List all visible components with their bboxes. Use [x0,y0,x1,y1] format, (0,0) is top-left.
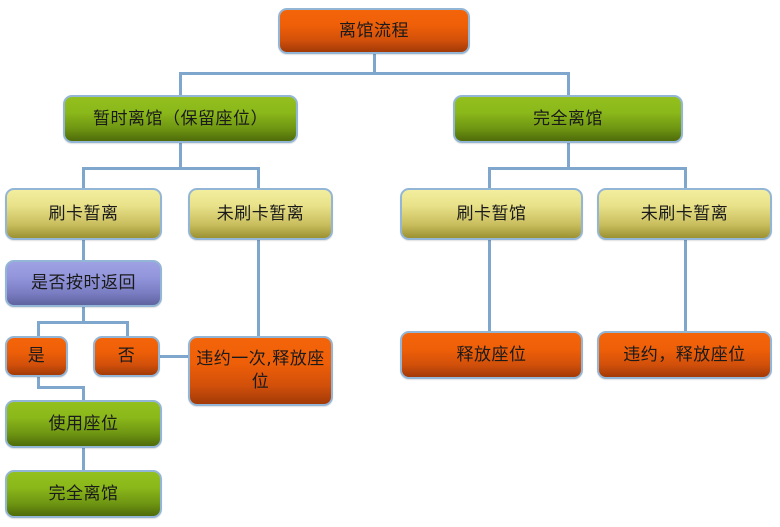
node-violate-release[interactable]: 违约，释放座位 [597,331,772,379]
node-yes[interactable]: 是 [5,336,68,377]
connector-root-bus [179,72,570,75]
connector-return-bus [37,321,129,324]
node-card-temp-leave[interactable]: 刷卡暂离 [5,188,162,240]
flowchart-canvas: 离馆流程暂时离馆（保留座位）完全离馆刷卡暂离未刷卡暂离刷卡暂馆未刷卡暂离是否按时… [0,0,780,527]
node-label-yes: 是 [13,346,60,366]
node-no[interactable]: 否 [93,336,160,377]
node-label-full-leave: 完全离馆 [461,109,675,129]
connector-return-to-yes [37,321,40,337]
node-label-nocard-temp-leave: 未刷卡暂离 [196,204,325,224]
node-temporary-leave[interactable]: 暂时离馆（保留座位） [63,95,298,143]
node-use-seat[interactable]: 使用座位 [5,400,162,448]
node-label-violation-once: 违约一次,释放座位 [196,348,325,394]
connector-temp-to-nocard [257,167,260,189]
connector-cardlib-to-rel [488,240,491,332]
connector-full-to-nocard [684,167,687,189]
connector-temp-to-card [82,167,85,189]
connector-nocard-to-viol [257,240,260,337]
node-return-on-time[interactable]: 是否按时返回 [5,260,162,307]
node-nocard-leave-lib[interactable]: 未刷卡暂离 [597,188,772,240]
connector-yes-to-use [82,386,85,401]
node-label-temporary-leave: 暂时离馆（保留座位） [71,109,290,129]
node-violation-once[interactable]: 违约一次,释放座位 [188,336,333,406]
connector-root-to-right [567,72,570,96]
connector-nocardlib-to-vio [684,240,687,332]
connector-temp-stem [179,143,182,168]
node-label-no: 否 [101,346,152,366]
node-label-root: 离馆流程 [286,21,462,41]
connector-root-to-left [179,72,182,96]
node-card-leave-lib[interactable]: 刷卡暂馆 [400,188,583,240]
node-root[interactable]: 离馆流程 [278,8,470,54]
node-label-card-temp-leave: 刷卡暂离 [13,204,154,224]
node-label-nocard-leave-lib: 未刷卡暂离 [605,204,764,224]
connector-use-to-end [82,448,85,471]
connector-card-to-return [82,240,85,261]
connector-return-to-no [126,321,129,337]
node-full-leave-end[interactable]: 完全离馆 [5,470,162,518]
connector-no-to-violation [160,355,189,358]
node-label-card-leave-lib: 刷卡暂馆 [408,204,575,224]
node-label-use-seat: 使用座位 [13,414,154,434]
node-nocard-temp-leave[interactable]: 未刷卡暂离 [188,188,333,240]
connector-root-stem [373,54,376,74]
connector-full-bus [488,167,685,170]
connector-temp-bus [82,167,260,170]
connector-yes-bus [37,386,83,389]
node-label-release-seat: 释放座位 [408,345,575,365]
connector-full-stem [567,143,570,168]
node-label-return-on-time: 是否按时返回 [13,273,154,293]
node-label-full-leave-end: 完全离馆 [13,484,154,504]
node-release-seat[interactable]: 释放座位 [400,331,583,379]
node-label-violate-release: 违约，释放座位 [605,345,764,365]
node-full-leave[interactable]: 完全离馆 [453,95,683,143]
connector-full-to-card [488,167,491,189]
